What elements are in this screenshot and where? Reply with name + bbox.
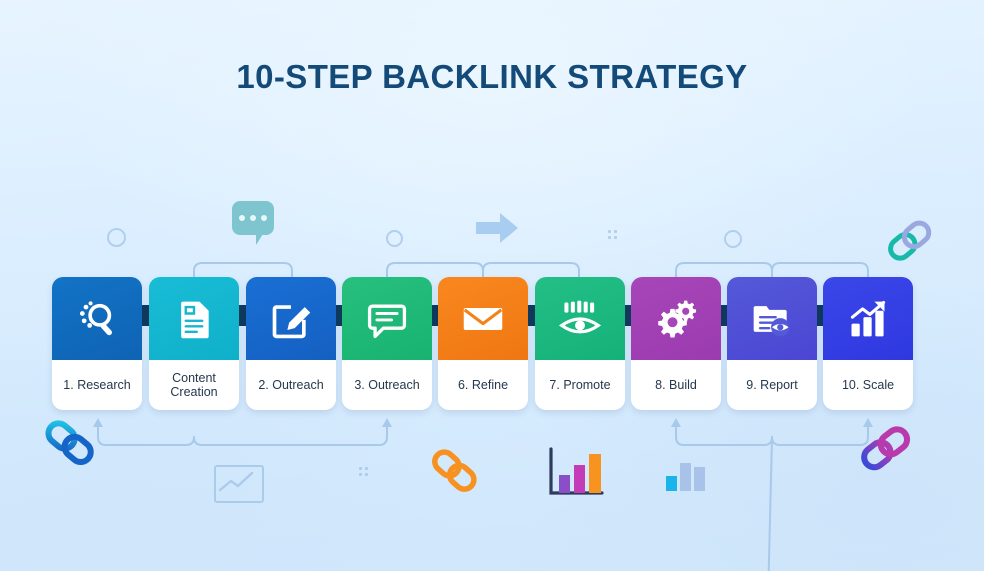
step-card-1[interactable]: 1. Research — [52, 277, 142, 410]
step-card-label: 7. Promote — [535, 360, 625, 410]
eye-visibility-icon — [535, 277, 625, 360]
growth-bar-chart-icon — [823, 277, 913, 360]
step-card-label: 1. Research — [52, 360, 142, 410]
step-card-8[interactable]: 9. Report — [727, 277, 817, 410]
step-card-label: 8. Build — [631, 360, 721, 410]
step-card-6[interactable]: 7. Promote — [535, 277, 625, 410]
step-card-2[interactable]: Content Creation — [149, 277, 239, 410]
step-card-label: 2. Outreach — [246, 360, 336, 410]
envelope-mail-icon — [438, 277, 528, 360]
step-card-3[interactable]: 2. Outreach — [246, 277, 336, 410]
page-title: 10-STEP BACKLINK STRATEGY — [0, 58, 984, 96]
gears-settings-icon — [631, 277, 721, 360]
step-card-7[interactable]: 8. Build — [631, 277, 721, 410]
infographic-canvas: 10-STEP BACKLINK STRATEGY 1. ResearchCon… — [0, 0, 984, 571]
step-card-label: 6. Refine — [438, 360, 528, 410]
magnifier-search-icon — [52, 277, 142, 360]
step-card-label: Content Creation — [149, 360, 239, 410]
chat-bubble-icon — [342, 277, 432, 360]
pencil-edit-icon — [246, 277, 336, 360]
step-card-label: 9. Report — [727, 360, 817, 410]
steps-row: 1. ResearchContent Creation2. Outreach3.… — [0, 277, 984, 410]
step-card-9[interactable]: 10. Scale — [823, 277, 913, 410]
step-card-5[interactable]: 6. Refine — [438, 277, 528, 410]
document-page-icon — [149, 277, 239, 360]
report-preview-icon — [727, 277, 817, 360]
step-card-label: 3. Outreach — [342, 360, 432, 410]
step-card-label: 10. Scale — [823, 360, 913, 410]
step-card-4[interactable]: 3. Outreach — [342, 277, 432, 410]
